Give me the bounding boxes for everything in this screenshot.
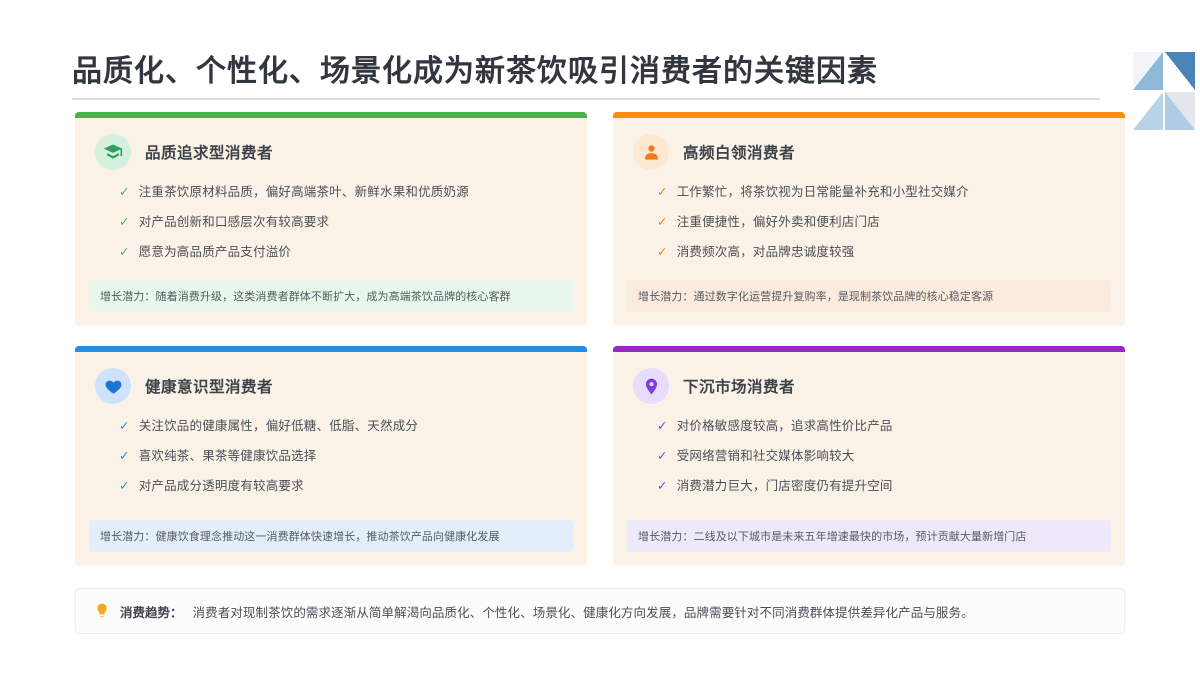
bullet-text: 工作繁忙，将茶饮视为日常能量补充和小型社交媒介 [677, 184, 969, 201]
logo-cell-top-right [1165, 52, 1195, 90]
check-icon: ✓ [657, 184, 668, 201]
check-icon: ✓ [119, 244, 130, 261]
card-high-frequency-whitecollar[interactable]: 高频白领消费者 ✓ 工作繁忙，将茶饮视为日常能量补充和小型社交媒介 ✓ 注重便捷… [613, 112, 1125, 326]
check-icon: ✓ [657, 244, 668, 261]
logo-cell-top-left [1133, 52, 1163, 90]
heart-icon [95, 368, 131, 404]
card-accent-bar [613, 346, 1125, 352]
bullet-text: 受网络营销和社交媒体影响较大 [677, 448, 855, 465]
logo-triangle-f [1133, 92, 1163, 130]
bullet-text: 对价格敏感度较高，追求高性价比产品 [677, 418, 893, 435]
logo-triangle-b [1133, 52, 1163, 90]
list-item: ✓ 愿意为高品质产品支付溢价 [119, 244, 567, 261]
card-accent-bar [75, 346, 587, 352]
card-header: 下沉市场消费者 [633, 368, 1105, 404]
check-icon: ✓ [657, 214, 668, 231]
check-icon: ✓ [119, 478, 130, 495]
card-title: 下沉市场消费者 [683, 375, 795, 397]
card-header: 健康意识型消费者 [95, 368, 567, 404]
consumer-segment-grid: 品质追求型消费者 ✓ 注重茶饮原材料品质，偏好高端茶叶、新鲜水果和优质奶源 ✓ … [75, 112, 1125, 566]
logo-triangle-h [1165, 92, 1195, 130]
card-accent-bar [75, 112, 587, 118]
list-item: ✓ 喜欢纯茶、果茶等健康饮品选择 [119, 448, 567, 465]
trend-text: 消费者对现制茶饮的需求逐渐从简单解渴向品质化、个性化、场景化、健康化方向发展，品… [193, 602, 974, 621]
check-icon: ✓ [119, 184, 130, 201]
logo-cell-bottom-left [1133, 92, 1163, 130]
card-bullet-list: ✓ 关注饮品的健康属性，偏好低糖、低脂、天然成分 ✓ 喜欢纯茶、果茶等健康饮品选… [95, 418, 567, 520]
list-item: ✓ 受网络营销和社交媒体影响较大 [657, 448, 1105, 465]
user-icon [633, 134, 669, 170]
bullet-text: 注重茶饮原材料品质，偏好高端茶叶、新鲜水果和优质奶源 [139, 184, 469, 201]
list-item: ✓ 关注饮品的健康属性，偏好低糖、低脂、天然成分 [119, 418, 567, 435]
card-title: 健康意识型消费者 [145, 375, 273, 397]
bullet-text: 对产品创新和口感层次有较高要求 [139, 214, 330, 231]
card-title: 品质追求型消费者 [145, 141, 273, 163]
check-icon: ✓ [657, 478, 668, 495]
bullet-text: 愿意为高品质产品支付溢价 [139, 244, 291, 261]
card-lower-tier-market[interactable]: 下沉市场消费者 ✓ 对价格敏感度较高，追求高性价比产品 ✓ 受网络营销和社交媒体… [613, 346, 1125, 566]
card-quality-seeking[interactable]: 品质追求型消费者 ✓ 注重茶饮原材料品质，偏好高端茶叶、新鲜水果和优质奶源 ✓ … [75, 112, 587, 326]
logo-triangle-d [1165, 52, 1195, 90]
bullet-text: 喜欢纯茶、果茶等健康饮品选择 [139, 448, 317, 465]
list-item: ✓ 对产品成分透明度有较高要求 [119, 478, 567, 495]
location-pin-icon [633, 368, 669, 404]
page-title: 品质化、个性化、场景化成为新茶饮吸引消费者的关键因素 [72, 46, 878, 90]
brand-logo [1133, 52, 1195, 130]
bullet-text: 消费潜力巨大，门店密度仍有提升空间 [677, 478, 893, 495]
slide-root: 品质化、个性化、场景化成为新茶饮吸引消费者的关键因素 品质追求型消费者 ✓ 注重… [0, 0, 1200, 675]
growth-potential-note: 增长潜力：随着消费升级，这类消费者群体不断扩大，成为高端茶饮品牌的核心客群 [89, 280, 573, 312]
card-health-conscious[interactable]: 健康意识型消费者 ✓ 关注饮品的健康属性，偏好低糖、低脂、天然成分 ✓ 喜欢纯茶… [75, 346, 587, 566]
list-item: ✓ 注重便捷性，偏好外卖和便利店门店 [657, 214, 1105, 231]
bullet-text: 注重便捷性，偏好外卖和便利店门店 [677, 214, 880, 231]
check-icon: ✓ [657, 448, 668, 465]
bullet-text: 消费频次高，对品牌忠诚度较强 [677, 244, 855, 261]
growth-potential-note: 增长潜力：通过数字化运营提升复购率，是现制茶饮品牌的核心稳定客源 [627, 280, 1111, 312]
growth-potential-note: 增长潜力：二线及以下城市是未来五年增速最快的市场，预计贡献大量新增门店 [627, 520, 1111, 552]
card-title: 高频白领消费者 [683, 141, 795, 163]
graduation-cap-icon [95, 134, 131, 170]
trend-label: 消费趋势： [120, 602, 183, 621]
lightbulb-icon [94, 603, 110, 619]
logo-cell-bottom-right [1165, 92, 1195, 130]
card-bullet-list: ✓ 对价格敏感度较高，追求高性价比产品 ✓ 受网络营销和社交媒体影响较大 ✓ 消… [633, 418, 1105, 520]
card-accent-bar [613, 112, 1125, 118]
check-icon: ✓ [657, 418, 668, 435]
card-header: 高频白领消费者 [633, 134, 1105, 170]
bullet-text: 对产品成分透明度有较高要求 [139, 478, 304, 495]
check-icon: ✓ [119, 418, 130, 435]
check-icon: ✓ [119, 214, 130, 231]
bullet-text: 关注饮品的健康属性，偏好低糖、低脂、天然成分 [139, 418, 418, 435]
list-item: ✓ 消费潜力巨大，门店密度仍有提升空间 [657, 478, 1105, 495]
card-bullet-list: ✓ 工作繁忙，将茶饮视为日常能量补充和小型社交媒介 ✓ 注重便捷性，偏好外卖和便… [633, 184, 1105, 280]
card-bullet-list: ✓ 注重茶饮原材料品质，偏好高端茶叶、新鲜水果和优质奶源 ✓ 对产品创新和口感层… [95, 184, 567, 280]
list-item: ✓ 工作繁忙，将茶饮视为日常能量补充和小型社交媒介 [657, 184, 1105, 201]
growth-potential-note: 增长潜力：健康饮食理念推动这一消费群体快速增长，推动茶饮产品向健康化发展 [89, 520, 573, 552]
list-item: ✓ 消费频次高，对品牌忠诚度较强 [657, 244, 1105, 261]
check-icon: ✓ [119, 448, 130, 465]
list-item: ✓ 对价格敏感度较高，追求高性价比产品 [657, 418, 1105, 435]
title-divider [72, 98, 1100, 100]
list-item: ✓ 对产品创新和口感层次有较高要求 [119, 214, 567, 231]
list-item: ✓ 注重茶饮原材料品质，偏好高端茶叶、新鲜水果和优质奶源 [119, 184, 567, 201]
consumption-trend-bar: 消费趋势： 消费者对现制茶饮的需求逐渐从简单解渴向品质化、个性化、场景化、健康化… [75, 588, 1125, 634]
card-header: 品质追求型消费者 [95, 134, 567, 170]
